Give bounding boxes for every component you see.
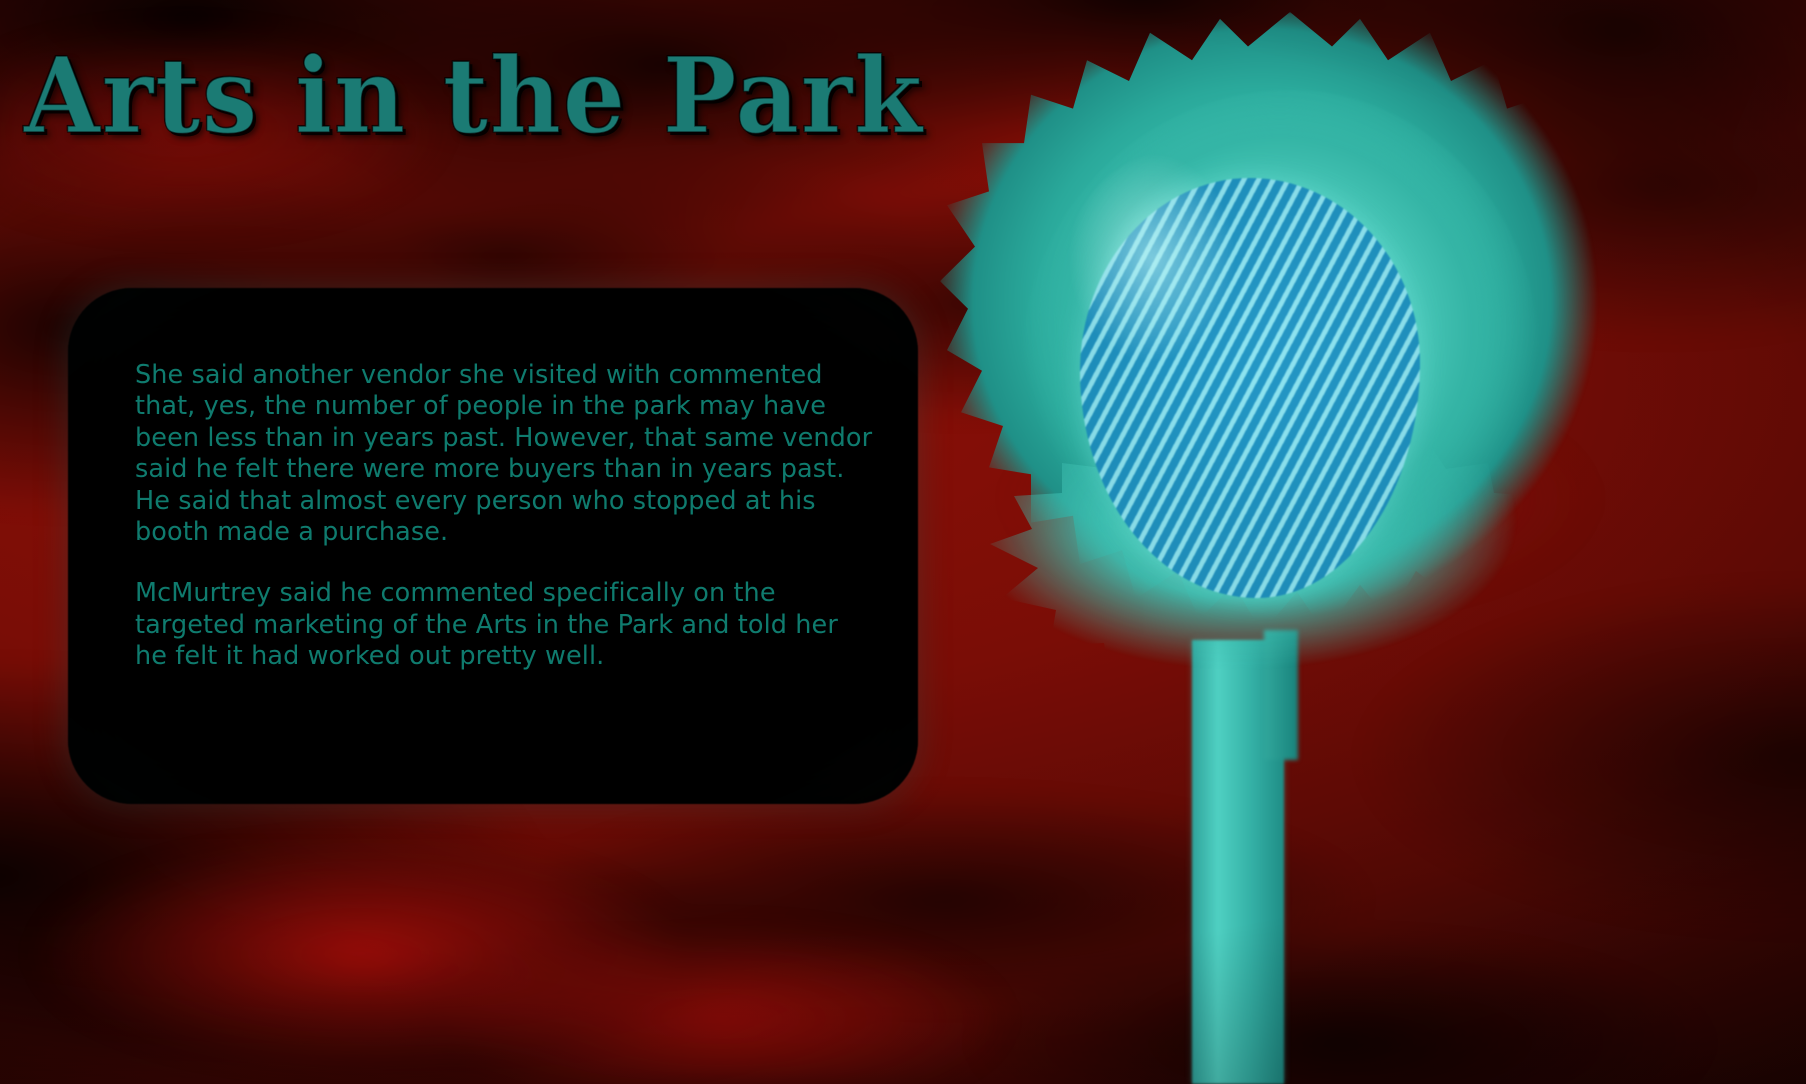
body-paragraph-1: She said another vendor she visited with… xyxy=(135,360,875,548)
page-title: Arts in the Park xyxy=(24,44,924,148)
slide-canvas: Arts in the Park She said another vendor… xyxy=(0,0,1806,1084)
body-paragraph-2: McMurtrey said he commented specifically… xyxy=(135,578,875,672)
paragraph-spacer xyxy=(135,548,875,578)
body-text-block: She said another vendor she visited with… xyxy=(135,360,875,673)
